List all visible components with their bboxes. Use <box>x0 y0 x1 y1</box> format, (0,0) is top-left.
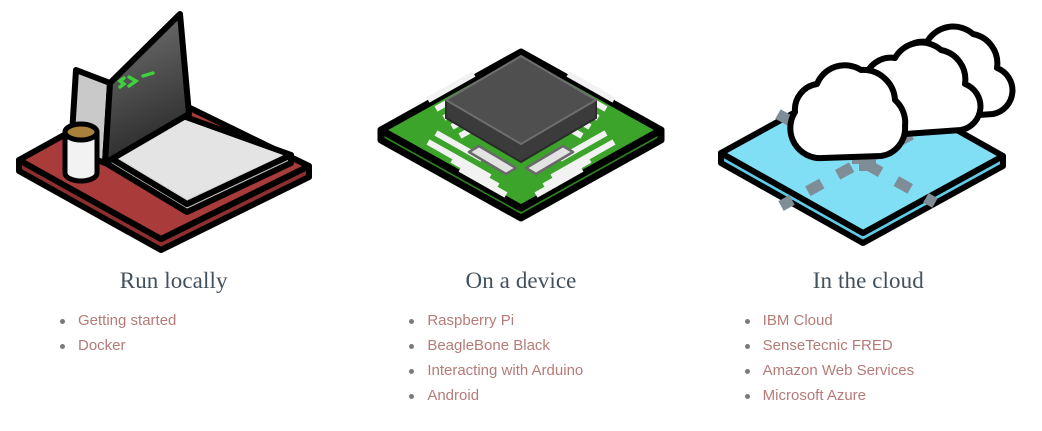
link-list: IBM Cloud SenseTecnic FRED Amazon Web Se… <box>743 312 914 412</box>
link-sensetecnic-fred[interactable]: SenseTecnic FRED <box>763 337 893 354</box>
link-list: Raspberry Pi BeagleBone Black Interactin… <box>407 312 583 412</box>
laptop-illustration-container <box>0 0 347 268</box>
list-item[interactable]: BeagleBone Black <box>407 337 583 355</box>
link-docker[interactable]: Docker <box>78 337 126 354</box>
column-on-a-device: On a device Raspberry Pi BeagleBone Blac… <box>347 0 694 431</box>
link-android[interactable]: Android <box>427 387 479 404</box>
list-item[interactable]: Interacting with Arduino <box>407 362 583 380</box>
link-ibm-cloud[interactable]: IBM Cloud <box>763 312 833 329</box>
link-list: Getting started Docker <box>58 312 176 362</box>
column-in-the-cloud: In the cloud IBM Cloud SenseTecnic FRED … <box>695 0 1042 431</box>
list-item[interactable]: IBM Cloud <box>743 312 914 330</box>
laptop-on-mat-illustration <box>9 0 339 268</box>
list-item[interactable]: Docker <box>58 337 176 355</box>
cloud-front <box>791 65 906 158</box>
bullet-icon <box>745 319 750 324</box>
list-item[interactable]: Android <box>407 387 583 405</box>
bullet-icon <box>409 344 414 349</box>
list-item[interactable]: Microsoft Azure <box>743 387 914 405</box>
list-item[interactable]: Raspberry Pi <box>407 312 583 330</box>
circuit-board-chip-illustration <box>356 0 686 268</box>
page-title-in-the-cloud: In the cloud <box>813 268 924 294</box>
cloud-platform-illustration <box>703 0 1033 268</box>
link-microsoft-azure[interactable]: Microsoft Azure <box>763 387 866 404</box>
bullet-icon <box>745 369 750 374</box>
bullet-icon <box>745 344 750 349</box>
list-item[interactable]: Getting started <box>58 312 176 330</box>
list-item[interactable]: SenseTecnic FRED <box>743 337 914 355</box>
column-run-locally: Run locally Getting started Docker <box>0 0 347 431</box>
bullet-icon <box>409 394 414 399</box>
list-item[interactable]: Amazon Web Services <box>743 362 914 380</box>
bullet-icon <box>745 394 750 399</box>
bullet-icon <box>60 344 65 349</box>
link-interacting-with-arduino[interactable]: Interacting with Arduino <box>427 362 583 379</box>
link-getting-started[interactable]: Getting started <box>78 312 176 329</box>
links-on-a-device: Raspberry Pi BeagleBone Black Interactin… <box>347 312 694 412</box>
link-raspberry-pi[interactable]: Raspberry Pi <box>427 312 514 329</box>
circuit-board-illustration-container <box>347 0 694 268</box>
bullet-icon <box>60 319 65 324</box>
cloud-illustration-container <box>695 0 1042 268</box>
bullet-icon <box>409 369 414 374</box>
link-amazon-web-services[interactable]: Amazon Web Services <box>763 362 914 379</box>
page-title-on-a-device: On a device <box>466 268 577 294</box>
page-title-run-locally: Run locally <box>120 268 228 294</box>
coffee-surface <box>65 124 97 140</box>
links-in-the-cloud: IBM Cloud SenseTecnic FRED Amazon Web Se… <box>695 312 1042 412</box>
bullet-icon <box>409 319 414 324</box>
link-beaglebone-black[interactable]: BeagleBone Black <box>427 337 550 354</box>
links-run-locally: Getting started Docker <box>0 312 347 362</box>
options-columns: Run locally Getting started Docker <box>0 0 1042 431</box>
